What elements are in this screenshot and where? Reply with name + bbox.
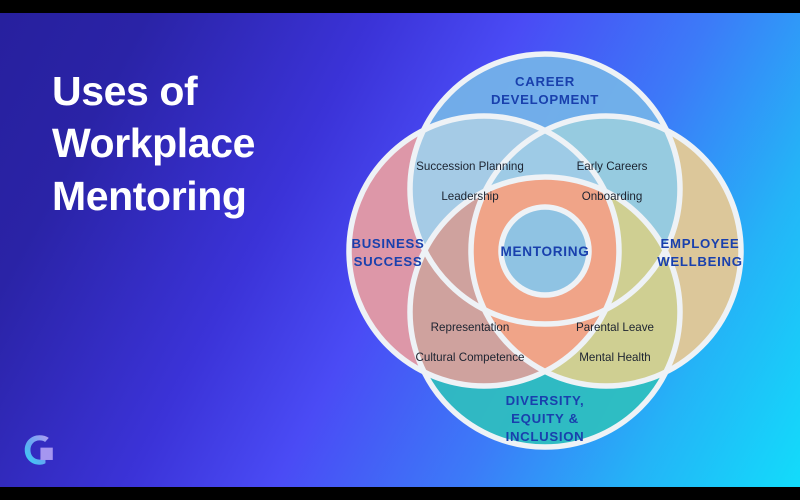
label-dei-line-1: DIVERSITY, bbox=[506, 393, 585, 408]
page-title-line-1: Uses of bbox=[52, 65, 352, 117]
label-career-development-line-2: DEVELOPMENT bbox=[491, 92, 599, 107]
label-dei-line-3: INCLUSION bbox=[506, 429, 585, 444]
g-logo-icon bbox=[20, 431, 58, 469]
label-diversity-equity-inclusion: DIVERSITY, EQUITY & INCLUSION bbox=[506, 393, 585, 444]
venn-diagram: CAREER DEVELOPMENT EMPLOYEE WELLBEING BU… bbox=[325, 29, 765, 473]
item-succession-planning: Succession Planning bbox=[416, 160, 524, 173]
item-early-careers: Early Careers bbox=[577, 160, 648, 173]
label-dei-line-2: EQUITY & bbox=[511, 411, 579, 426]
letterbox-top bbox=[0, 0, 800, 13]
item-leadership: Leadership bbox=[441, 190, 498, 203]
item-representation: Representation bbox=[431, 321, 510, 334]
label-career-development-line-1: CAREER bbox=[515, 74, 575, 89]
item-parental-leave: Parental Leave bbox=[576, 321, 654, 334]
item-cultural-competence: Cultural Competence bbox=[416, 351, 525, 364]
label-employee-wellbeing-line-2: WELLBEING bbox=[657, 254, 742, 269]
page-title-line-2: Workplace bbox=[52, 117, 352, 169]
label-mentoring: MENTORING bbox=[500, 244, 589, 259]
label-business-success-line-1: BUSINESS bbox=[351, 236, 424, 251]
item-mental-health: Mental Health bbox=[579, 351, 651, 364]
letterbox-bottom bbox=[0, 487, 800, 500]
label-employee-wellbeing-line-1: EMPLOYEE bbox=[661, 236, 740, 251]
item-onboarding: Onboarding bbox=[582, 190, 643, 203]
page-title: Uses of Workplace Mentoring bbox=[52, 65, 352, 222]
page-title-line-3: Mentoring bbox=[52, 170, 352, 222]
slide-canvas: Uses of Workplace Mentoring bbox=[0, 13, 800, 487]
label-business-success-line-2: SUCCESS bbox=[354, 254, 423, 269]
